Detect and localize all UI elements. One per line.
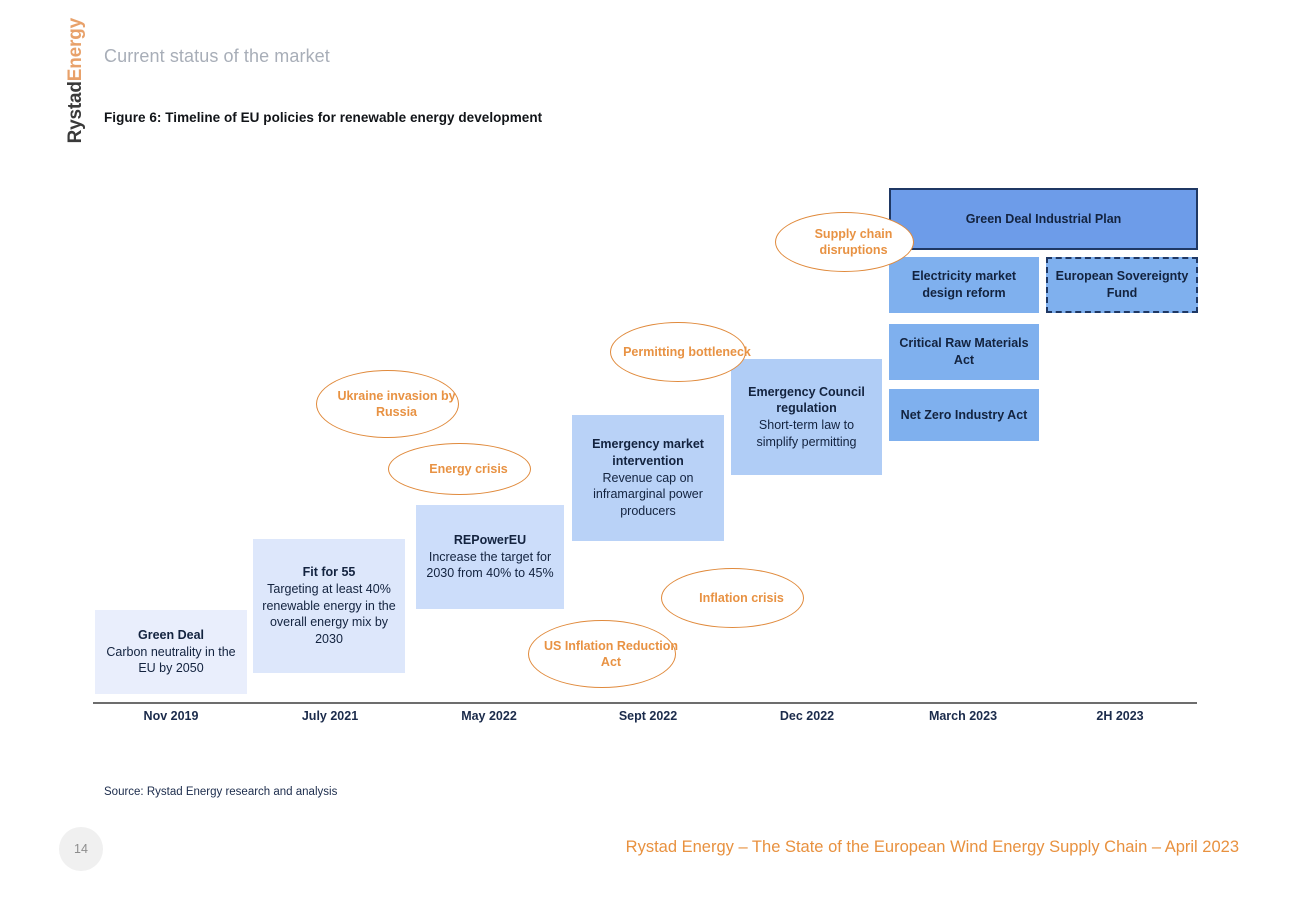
timeline-axis [93, 702, 1197, 704]
policy-title: Emergency market intervention [579, 436, 717, 469]
event-bubble-energy-crisis: Energy crisis [388, 443, 531, 495]
policy-title: Electricity market design reform [896, 268, 1032, 301]
event-bubble-label: Inflation crisis [699, 590, 784, 607]
event-bubble-us-inflation-reduction-act: US Inflation Reduction Act [528, 620, 676, 688]
policy-desc: Short-term law to simplify permitting [738, 417, 875, 450]
policy-box-fit-for-55: Fit for 55 Targeting at least 40% renewa… [253, 539, 405, 673]
event-bubble-permitting-bottleneck: Permitting bottleneck [610, 322, 746, 382]
policy-title: Emergency Council regulation [738, 384, 875, 417]
policy-box-repowereu: REPowerEU Increase the target for 2030 f… [416, 505, 564, 609]
policy-title: Fit for 55 [303, 564, 356, 581]
policy-title: Net Zero Industry Act [901, 407, 1028, 424]
axis-tick-dec-2022: Dec 2022 [780, 709, 834, 723]
policy-box-electricity-market-design-reform: Electricity market design reform [889, 257, 1039, 313]
policy-desc: Targeting at least 40% renewable energy … [260, 581, 398, 648]
policy-title: Green Deal Industrial Plan [966, 211, 1122, 228]
event-bubble-label: Energy crisis [429, 461, 508, 478]
policy-box-green-deal: Green Deal Carbon neutrality in the EU b… [95, 610, 247, 694]
axis-tick-sept-2022: Sept 2022 [619, 709, 677, 723]
axis-tick-march-2023: March 2023 [929, 709, 997, 723]
policy-desc: Increase the target for 2030 from 40% to… [423, 549, 557, 582]
timeline-chart: Green Deal Carbon neutrality in the EU b… [0, 0, 1292, 908]
policy-box-emergency-council-regulation: Emergency Council regulation Short-term … [731, 359, 882, 475]
policy-desc: Carbon neutrality in the EU by 2050 [102, 644, 240, 677]
page-number-badge: 14 [59, 827, 103, 871]
policy-title: Critical Raw Materials Act [896, 335, 1032, 368]
policy-title: Green Deal [138, 627, 204, 644]
axis-tick-2h-2023: 2H 2023 [1096, 709, 1143, 723]
event-bubble-inflation-crisis: Inflation crisis [661, 568, 804, 628]
event-bubble-label: Supply chain disruptions [785, 226, 922, 259]
event-bubble-label: Permitting bottleneck [623, 344, 751, 361]
policy-box-emergency-market-intervention: Emergency market intervention Revenue ca… [572, 415, 724, 541]
event-bubble-supply-chain-disruptions: Supply chain disruptions [775, 212, 914, 272]
policy-box-critical-raw-materials-act: Critical Raw Materials Act [889, 324, 1039, 380]
event-bubble-label: US Inflation Reduction Act [538, 638, 684, 671]
event-bubble-label: Ukraine invasion by Russia [326, 388, 467, 421]
policy-box-european-sovereignty-fund: European Sovereignty Fund [1046, 257, 1198, 313]
event-bubble-ukraine-invasion: Ukraine invasion by Russia [316, 370, 459, 438]
policy-box-green-deal-industrial-plan: Green Deal Industrial Plan [889, 188, 1198, 250]
policy-title: REPowerEU [454, 532, 526, 549]
policy-box-net-zero-industry-act: Net Zero Industry Act [889, 389, 1039, 441]
axis-tick-nov-2019: Nov 2019 [144, 709, 199, 723]
policy-title: European Sovereignty Fund [1055, 268, 1189, 301]
axis-tick-may-2022: May 2022 [461, 709, 517, 723]
report-footer-line: Rystad Energy – The State of the Europea… [626, 838, 1239, 857]
source-note: Source: Rystad Energy research and analy… [104, 786, 337, 798]
slide: RystadEnergy Current status of the marke… [0, 0, 1292, 908]
policy-desc: Revenue cap on inframarginal power produ… [579, 470, 717, 520]
axis-tick-july-2021: July 2021 [302, 709, 358, 723]
page-number: 14 [74, 842, 88, 856]
